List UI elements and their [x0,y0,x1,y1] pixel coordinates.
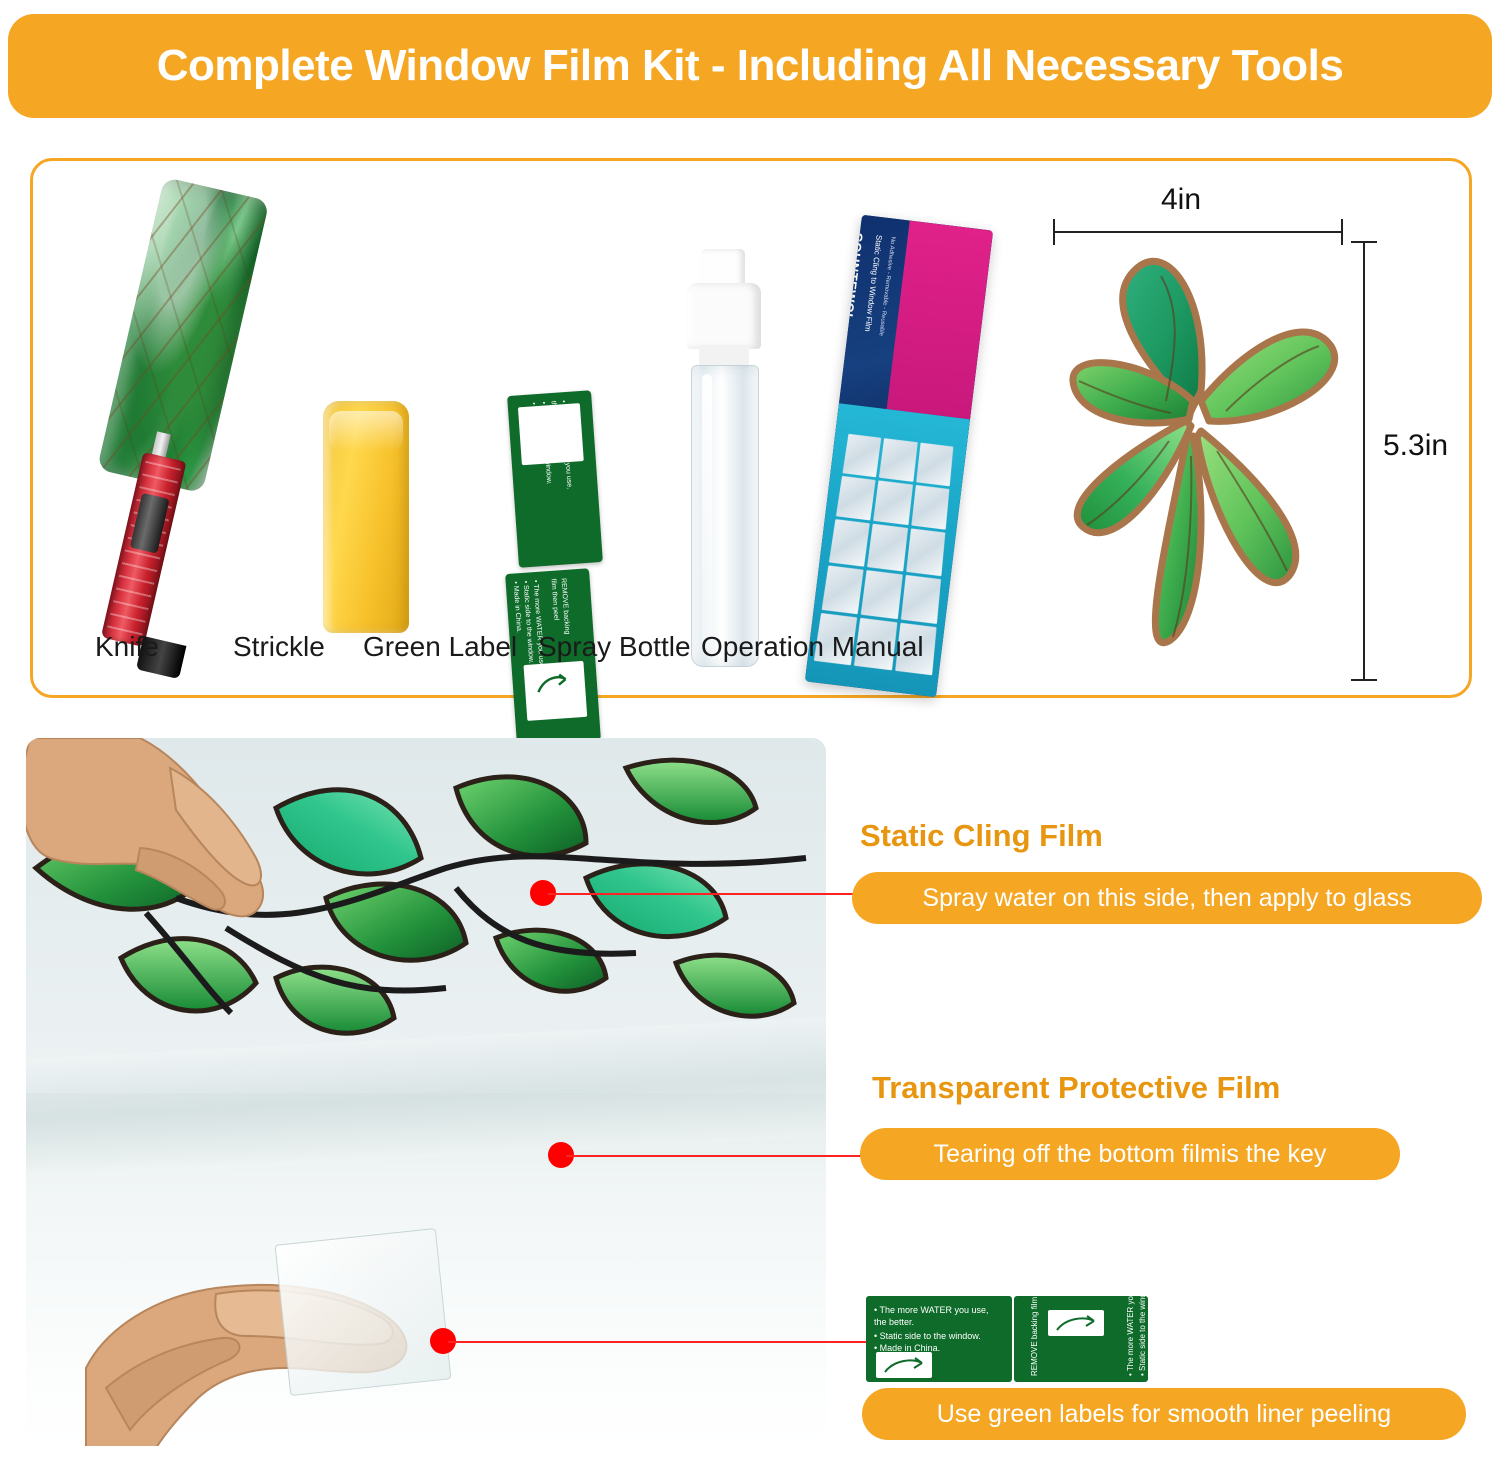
product-infographic: Complete Window Film Kit - Including All… [0,0,1500,1472]
page-title: Complete Window Film Kit - Including All… [157,41,1344,91]
product-photo [26,738,826,1446]
dimension-height-label: 5.3in [1383,429,1448,463]
kit-panel: • The more WATER you use, the better. • … [30,158,1472,698]
kit-item-label-green-label: Green Label [363,631,517,663]
callout-leader-1 [548,893,862,895]
green-label-line-2: the better. [874,1316,914,1328]
green-label-line-1: • The more WATER you use, [874,1304,989,1316]
callout-title-2: Transparent Protective Film [872,1070,1280,1106]
kit-item-label-strickle: Strickle [233,631,325,663]
kit-item-captions: Knife Strickle Green Label Spray Bottle … [33,631,993,681]
callout-title-1: Static Cling Film [860,818,1103,854]
knife-icon [103,179,283,799]
green-label-vertical-text: REMOVE backing film then peel [1030,1296,1039,1376]
leaf-motif-icon [1041,241,1351,681]
peel-arrow-icon [529,414,565,442]
callout-pill-1: Spray water on this side, then apply to … [852,872,1482,924]
callout-leader-3 [448,1341,866,1343]
manual-icon: COUNTEWOL Static Cling to Window Film No… [805,215,993,698]
peeled-liner-corner [274,1228,451,1396]
green-label-right-line-2: • Static side to the window. [1138,1296,1147,1376]
leaf-art-with-dimensions: 4in 5.3in [1013,171,1463,691]
peel-arrow-icon-3 [882,1356,926,1376]
spray-bottle-icon [673,249,783,669]
hand-top-icon [26,738,320,1008]
callout-leader-2 [566,1155,866,1157]
green-label-photo: • The more WATER you use, the better. • … [866,1296,1148,1382]
callout-pill-3: Use green labels for smooth liner peelin… [862,1388,1466,1440]
squeegee-icon [323,401,409,633]
callout-pill-2: Tearing off the bottom filmis the key [860,1128,1400,1180]
header-banner: Complete Window Film Kit - Including All… [8,14,1492,118]
kit-item-label-spray: Spray Bottle [538,631,691,663]
green-label-line-3: • Static side to the window. [874,1330,981,1342]
green-label-right-line-1: • The more WATER you use. [1126,1296,1135,1376]
kit-item-label-manual: Operation Manual [701,631,924,663]
green-label-icon: • The more WATER you use, the better. • … [507,390,603,567]
kit-items-group: • The more WATER you use, the better. • … [33,161,993,695]
kit-item-label-knife: Knife [95,631,159,663]
peel-arrow-icon-4 [1054,1314,1098,1334]
dimension-width-label: 4in [1161,183,1201,217]
